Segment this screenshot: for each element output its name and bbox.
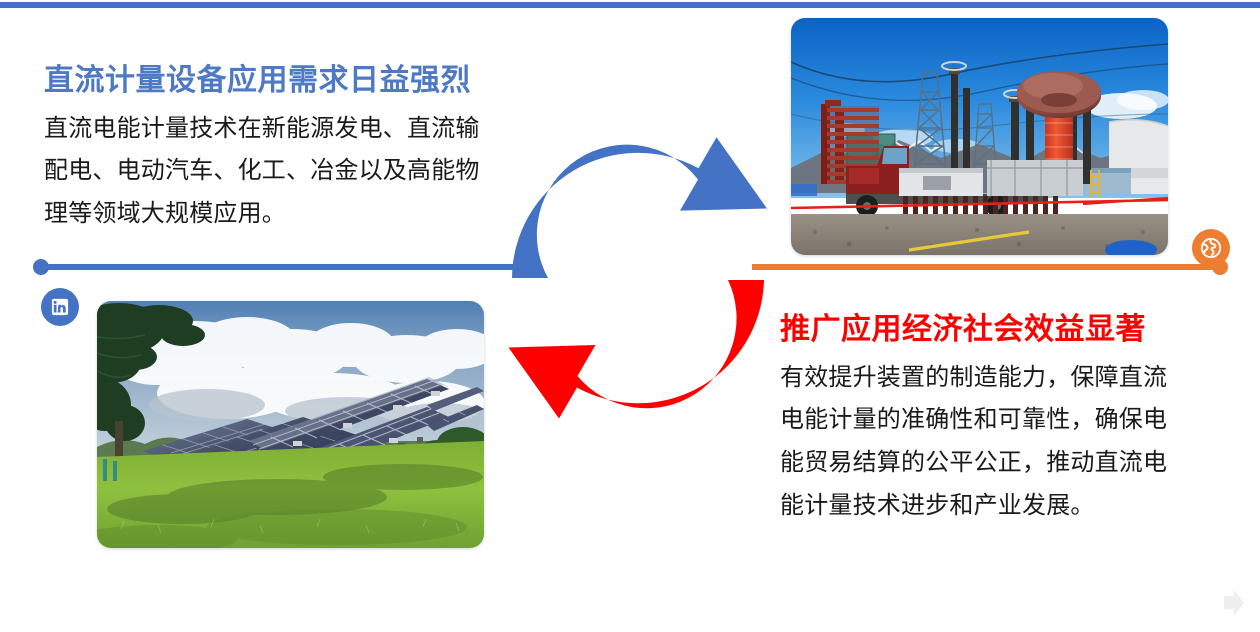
left-body-line: 配电、电动汽车、化工、冶金以及高能物	[44, 150, 524, 193]
blue-arrow	[512, 137, 767, 278]
right-heading: 推广应用经济社会效益显著	[780, 312, 1222, 349]
globe-icon[interactable]	[1192, 229, 1230, 267]
left-connector-dot	[33, 259, 49, 275]
right-body-line: 能计量技术进步和产业发展。	[780, 485, 1222, 528]
top-accent-bar	[0, 2, 1260, 8]
solar-farm-photo	[97, 301, 484, 548]
substation-photo	[791, 18, 1168, 255]
right-body: 有效提升装置的制造能力，保障直流 电能计量的准确性和可靠性，确保电 能贸易结算的…	[780, 357, 1222, 528]
right-text-block: 推广应用经济社会效益显著 有效提升装置的制造能力，保障直流 电能计量的准确性和可…	[780, 312, 1222, 527]
left-connector-line	[40, 264, 518, 270]
slide-canvas: 直流计量设备应用需求日益强烈 直流电能计量技术在新能源发电、直流输 配电、电动汽…	[0, 0, 1260, 632]
left-body-line: 理等领域大规模应用。	[44, 193, 524, 236]
right-body-line: 能贸易结算的公平公正，推动直流电	[780, 442, 1222, 485]
page-corner-mark	[1212, 588, 1246, 618]
two-arrow-cycle	[488, 128, 788, 428]
left-heading: 直流计量设备应用需求日益强烈	[44, 62, 524, 100]
left-body-line: 直流电能计量技术在新能源发电、直流输	[44, 108, 524, 151]
red-arrow	[509, 280, 765, 419]
left-body: 直流电能计量技术在新能源发电、直流输 配电、电动汽车、化工、冶金以及高能物 理等…	[44, 108, 524, 236]
right-body-line: 电能计量的准确性和可靠性，确保电	[780, 399, 1222, 442]
linkedin-icon[interactable]	[41, 288, 79, 326]
left-text-block: 直流计量设备应用需求日益强烈 直流电能计量技术在新能源发电、直流输 配电、电动汽…	[44, 62, 524, 236]
right-body-line: 有效提升装置的制造能力，保障直流	[780, 357, 1222, 400]
right-connector-line	[752, 264, 1220, 270]
